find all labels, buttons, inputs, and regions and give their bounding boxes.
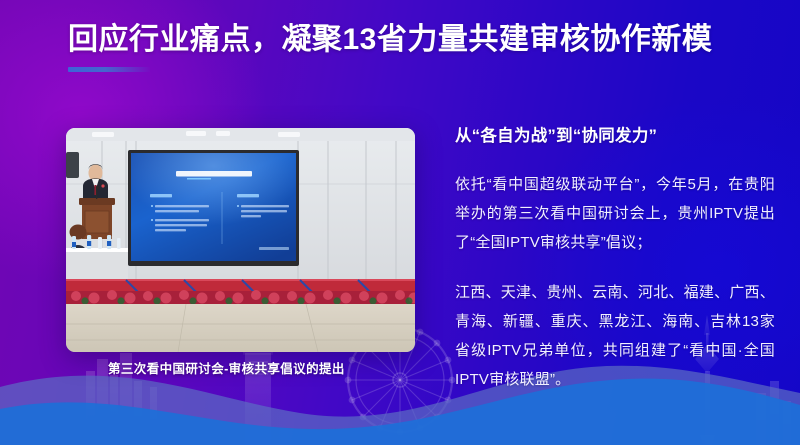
body-paragraph-2: 江西、天津、贵州、云南、河北、福建、广西、青海、新疆、重庆、黑龙江、海南、吉林1…: [455, 278, 775, 394]
section-lead: 从“各自为战”到“协同发力”: [455, 124, 775, 148]
conference-photo: [66, 128, 415, 352]
body-paragraph-1: 依托“看中国超级联动平台”，今年5月，在贵阳举办的第三次看中国研讨会上，贵州IP…: [455, 170, 775, 257]
page-title: 回应行业痛点，凝聚13省力量共建审核协作新模: [68, 20, 768, 60]
conference-photo-image: [66, 128, 415, 352]
content-column: 从“各自为战”到“协同发力” 依托“看中国超级联动平台”，今年5月，在贵阳举办的…: [455, 124, 775, 394]
title-accent-rule: [68, 67, 150, 72]
photo-caption: 第三次看中国研讨会-审核共享倡议的提出: [108, 358, 348, 377]
title-block: 回应行业痛点，凝聚13省力量共建审核协作新模: [68, 20, 768, 72]
slide-canvas: 回应行业痛点，凝聚13省力量共建审核协作新模: [0, 0, 800, 445]
